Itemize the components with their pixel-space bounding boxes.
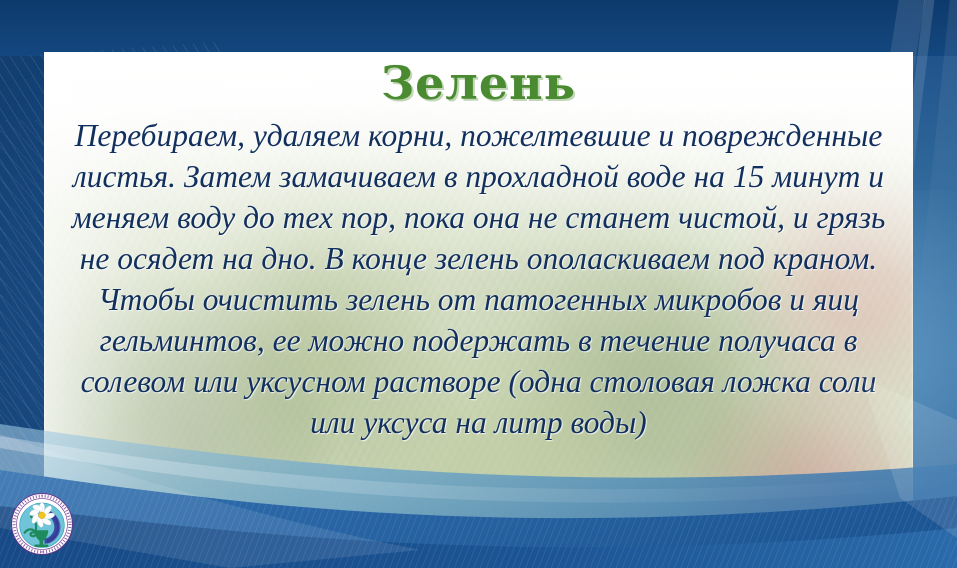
content-panel: Зелень Перебираем, удаляем корни, пожелт…	[44, 52, 913, 568]
slide-text-layer: Зелень Перебираем, удаляем корни, пожелт…	[44, 52, 913, 568]
slide-title: Зелень	[50, 60, 907, 106]
presentation-slide: Зелень Перебираем, удаляем корни, пожелт…	[0, 0, 957, 568]
health-center-emblem-icon	[11, 493, 73, 555]
slide-body-text: Перебираем, удаляем корни, пожелтевшие и…	[50, 116, 907, 444]
health-center-logo	[11, 493, 73, 555]
